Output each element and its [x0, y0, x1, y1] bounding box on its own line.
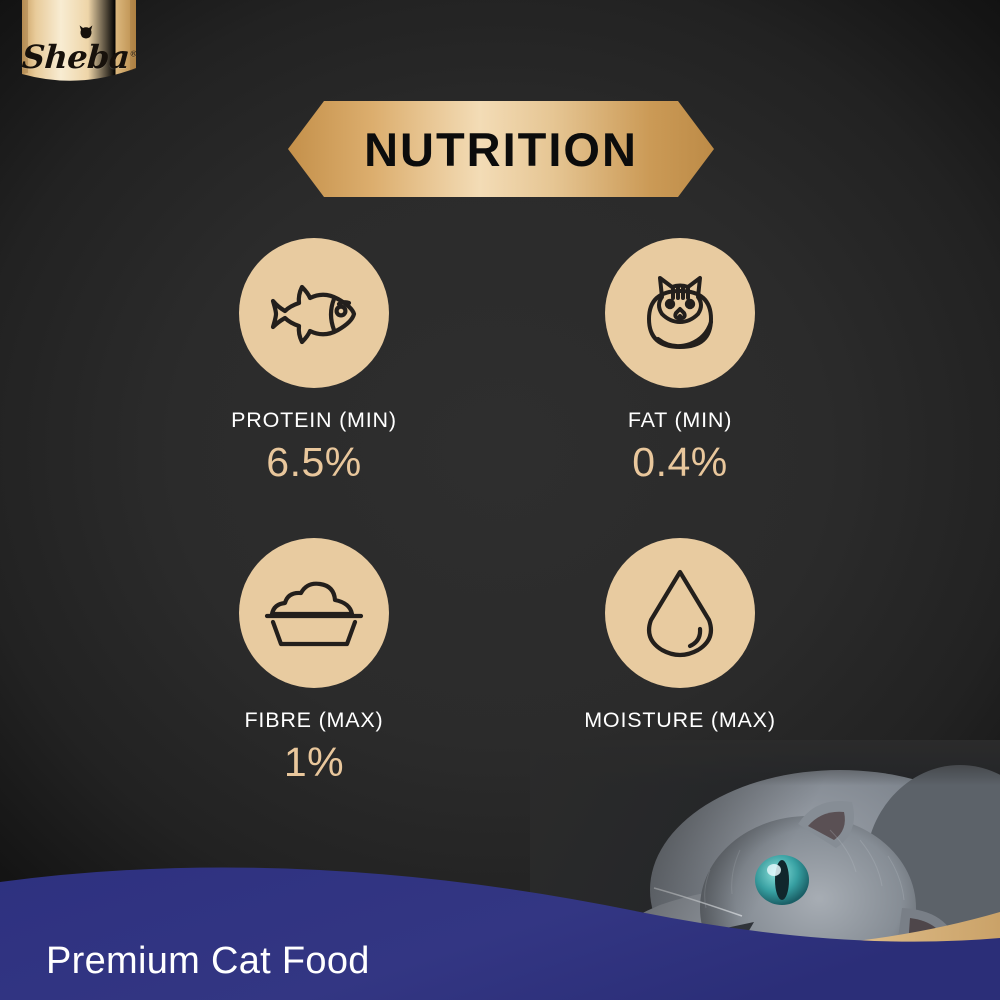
stat-label: FAT (MIN) [520, 408, 840, 433]
nutrition-banner: NUTRITION [286, 99, 716, 199]
food-bowl-icon-circle [239, 538, 389, 688]
stat-label: PROTEIN (MIN) [154, 408, 474, 433]
droplet-icon [643, 567, 717, 659]
stat-value: 6.5% [154, 439, 474, 486]
page-title: NUTRITION [286, 99, 716, 199]
cat-icon [634, 267, 726, 359]
stat-value: 1% [154, 739, 474, 786]
product-nutrition-card: Sheba® NUTRITION [0, 0, 1000, 1000]
food-bowl-icon [264, 576, 364, 650]
fish-icon-circle [239, 238, 389, 388]
nutrition-item-fat: FAT (MIN) 0.4% [520, 238, 840, 486]
footer-tagline: Premium Cat Food [46, 940, 370, 983]
stat-label: FIBRE (MAX) [154, 708, 474, 733]
stat-value: 0.4% [520, 439, 840, 486]
sheba-logo: Sheba® [18, 0, 140, 90]
logo-wordmark: Sheba® [18, 0, 140, 90]
nutrition-item-protein: PROTEIN (MIN) 6.5% [154, 238, 474, 486]
nutrition-item-fibre: FIBRE (MAX) 1% [154, 538, 474, 786]
stat-label: MOISTURE (MAX) [520, 708, 840, 733]
logo-text: Sheba® [20, 38, 138, 76]
cat-icon-circle [605, 238, 755, 388]
droplet-icon-circle [605, 538, 755, 688]
nutrition-grid: PROTEIN (MIN) 6.5% [150, 238, 850, 798]
footer-banner: Premium Cat Food [0, 860, 1000, 1000]
logo-trademark: ® [129, 49, 137, 58]
fish-icon [266, 274, 362, 352]
